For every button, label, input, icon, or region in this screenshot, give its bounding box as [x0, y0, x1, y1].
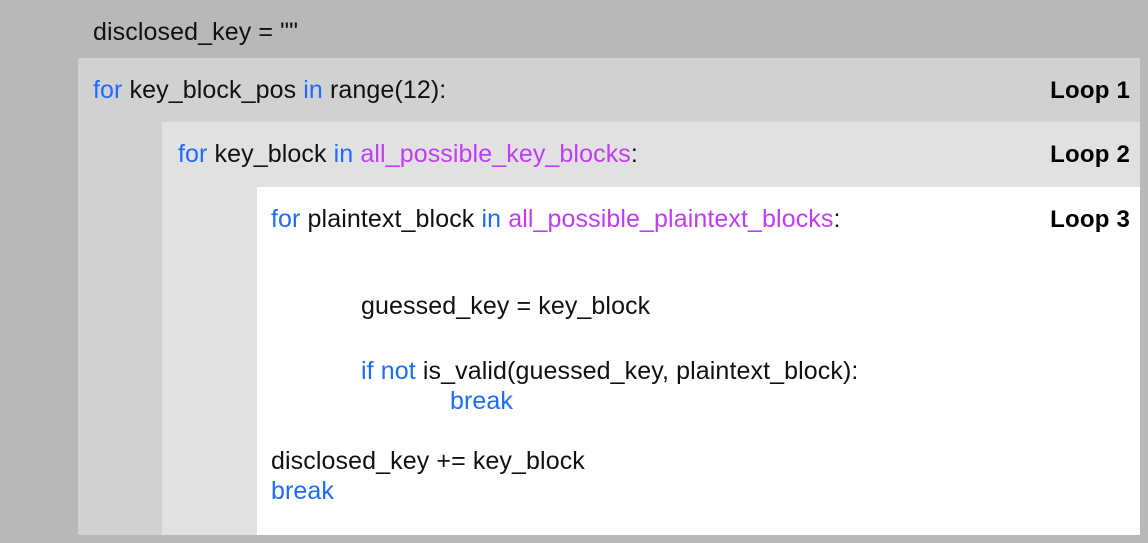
code-line-guessed-key-assign: guessed_key = key_block: [361, 292, 650, 322]
loop-label-1: Loop 1: [1050, 77, 1130, 105]
code-token-keyword-in: in: [481, 205, 501, 233]
code-token-plain: guessed_key = key_block: [361, 292, 650, 320]
code-token-iterable: all_possible_key_blocks: [360, 140, 631, 168]
loop-label-2: Loop 2: [1050, 141, 1130, 169]
code-line-disclosed-key-append: disclosed_key += key_block: [271, 447, 585, 477]
code-diagram-canvas: disclosed_key = "" for key_block_pos in …: [0, 0, 1148, 543]
code-token-plain: disclosed_key = "": [93, 18, 298, 46]
code-line-break-outer: break: [271, 477, 334, 507]
code-line-for-key-block: for key_block in all_possible_key_blocks…: [178, 140, 638, 170]
code-line-if-not-is-valid: if not is_valid(guessed_key, plaintext_b…: [361, 357, 858, 387]
code-token-loop-target: key_block_pos: [122, 76, 303, 104]
code-token-keyword-in: in: [334, 140, 354, 168]
code-token-plain: disclosed_key += key_block: [271, 447, 585, 475]
code-token-colon: :: [834, 205, 841, 233]
code-line-for-key-block-pos: for key_block_pos in range(12):: [93, 76, 446, 106]
code-token-loop-target: plaintext_block: [300, 205, 481, 233]
code-token-iterable: range(12):: [323, 76, 446, 104]
code-token-keyword-if-not: if not: [361, 357, 416, 385]
code-token-loop-target: key_block: [207, 140, 333, 168]
code-token-iterable: all_possible_plaintext_blocks: [508, 205, 833, 233]
code-token-keyword-break: break: [450, 387, 513, 415]
loop-label-3: Loop 3: [1050, 206, 1130, 234]
code-token-keyword-for: for: [271, 205, 300, 233]
code-line-break-inner: break: [450, 387, 513, 417]
code-line-for-plaintext-block: for plaintext_block in all_possible_plai…: [271, 205, 841, 235]
code-token-condition: is_valid(guessed_key, plaintext_block):: [416, 357, 859, 385]
code-token-keyword-for: for: [178, 140, 207, 168]
code-token-colon: :: [631, 140, 638, 168]
code-token-keyword-in: in: [303, 76, 323, 104]
code-token-keyword-break: break: [271, 477, 334, 505]
code-token-keyword-for: for: [93, 76, 122, 104]
code-line-disclosed-key-init: disclosed_key = "": [93, 18, 298, 48]
